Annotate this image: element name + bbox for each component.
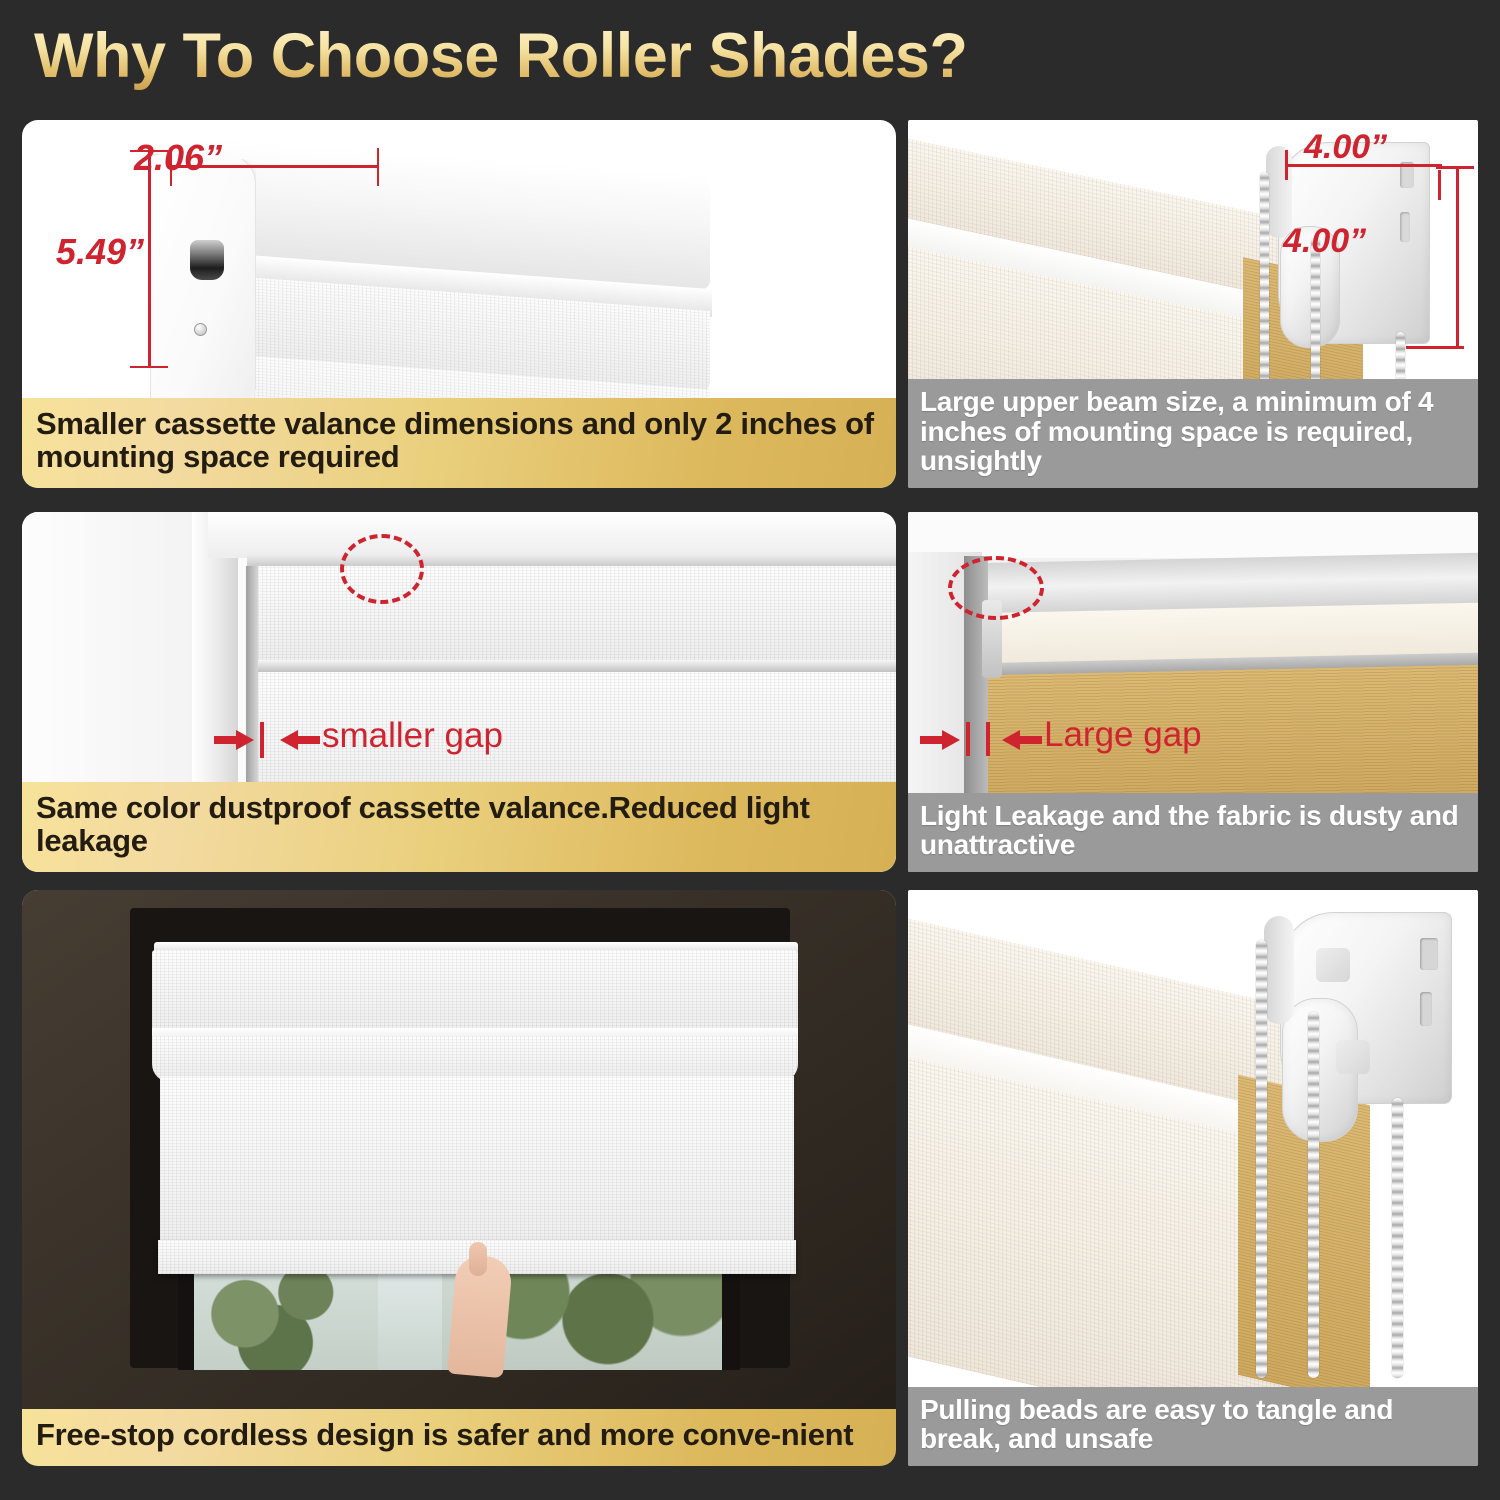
bead-chain-right: [1392, 1098, 1403, 1378]
highlight-circle-gap: [340, 534, 424, 604]
dim-height-tick-bottom: [1406, 346, 1464, 349]
panel-con-beam-size: 4.00” 4.00” Large upper beam size, a min…: [908, 120, 1478, 488]
gap-arrow-right-icon: [996, 728, 1042, 752]
dim-height-label: 4.00”: [1283, 222, 1366, 261]
bead-chain-middle: [1308, 1012, 1319, 1378]
panel-pro-cordless: Free-stop cordless design is safer and m…: [22, 890, 896, 1466]
panel-pro-small-gap: smaller gap Same color dustproof cassett…: [22, 512, 896, 872]
page-title: Why To Choose Roller Shades?: [34, 20, 967, 92]
hand-finger: [469, 1242, 487, 1276]
bead-chain-left: [1256, 940, 1267, 1378]
caption-pro-cassette-size: Smaller cassette valance dimensions and …: [22, 398, 896, 488]
dim-width-tick-right: [377, 148, 379, 186]
gap-shadow-strip: [246, 566, 258, 814]
cassette-valance: [152, 950, 798, 1032]
dim-height-tick-bottom: [130, 366, 168, 368]
panel-con-pull-beads: Pulling beads are easy to tangle and bre…: [908, 890, 1478, 1466]
caption-con-beam-size: Large upper beam size, a minimum of 4 in…: [908, 379, 1478, 488]
gap-label: smaller gap: [322, 716, 503, 756]
panel-con-large-gap: Large gap Light Leakage and the fabric i…: [908, 512, 1478, 872]
bracket-slot-lower: [1400, 212, 1410, 242]
window-wall: [22, 512, 212, 812]
gap-marker-line-left: [966, 722, 970, 756]
dim-width-tick-right: [1438, 170, 1441, 200]
dim-height-line: [148, 150, 151, 368]
ceiling-strip: [908, 512, 1478, 558]
gap-marker-line-right: [986, 722, 990, 756]
room-photo-cordless: [22, 890, 896, 1466]
dim-height-line: [1456, 166, 1459, 348]
product-photo-pull-beads: [908, 890, 1478, 1466]
valance-clutch-slot: [190, 240, 224, 280]
bracket-logo-upper-icon: [1316, 948, 1350, 982]
caption-con-pull-beads: Pulling beads are easy to tangle and bre…: [908, 1387, 1478, 1466]
caption-con-large-gap: Light Leakage and the fabric is dusty an…: [908, 793, 1478, 872]
window-frame-top: [208, 512, 896, 558]
title-bar: Why To Choose Roller Shades?: [0, 0, 1500, 112]
gap-marker-line: [260, 722, 264, 758]
highlight-circle-gap: [948, 556, 1044, 620]
caption-pro-cordless: Free-stop cordless design is safer and m…: [22, 1409, 896, 1466]
dim-height-tick-top: [130, 150, 168, 152]
dim-height-tick-top: [1436, 166, 1474, 169]
caption-pro-small-gap: Same color dustproof cassette valance.Re…: [22, 782, 896, 872]
bracket-slot-lower: [1420, 992, 1432, 1026]
dim-width-label: 4.00”: [1304, 128, 1387, 167]
gap-arrow-left-icon: [214, 728, 256, 752]
roller-barrel-end: [1264, 916, 1294, 1024]
panel-pro-cassette-size: 2.06” 5.49” Smaller cassette valance dim…: [22, 120, 896, 488]
bracket-logo-lower-icon: [1336, 1040, 1370, 1074]
gap-arrow-right-icon: [274, 728, 320, 752]
gap-label: Large gap: [1044, 715, 1202, 755]
bracket-slot-upper: [1420, 938, 1438, 970]
shade-fabric-body: [160, 1076, 794, 1258]
valance-screw: [194, 323, 207, 336]
dim-height-label: 5.49”: [22, 231, 144, 273]
gap-arrow-left-icon: [920, 728, 962, 752]
